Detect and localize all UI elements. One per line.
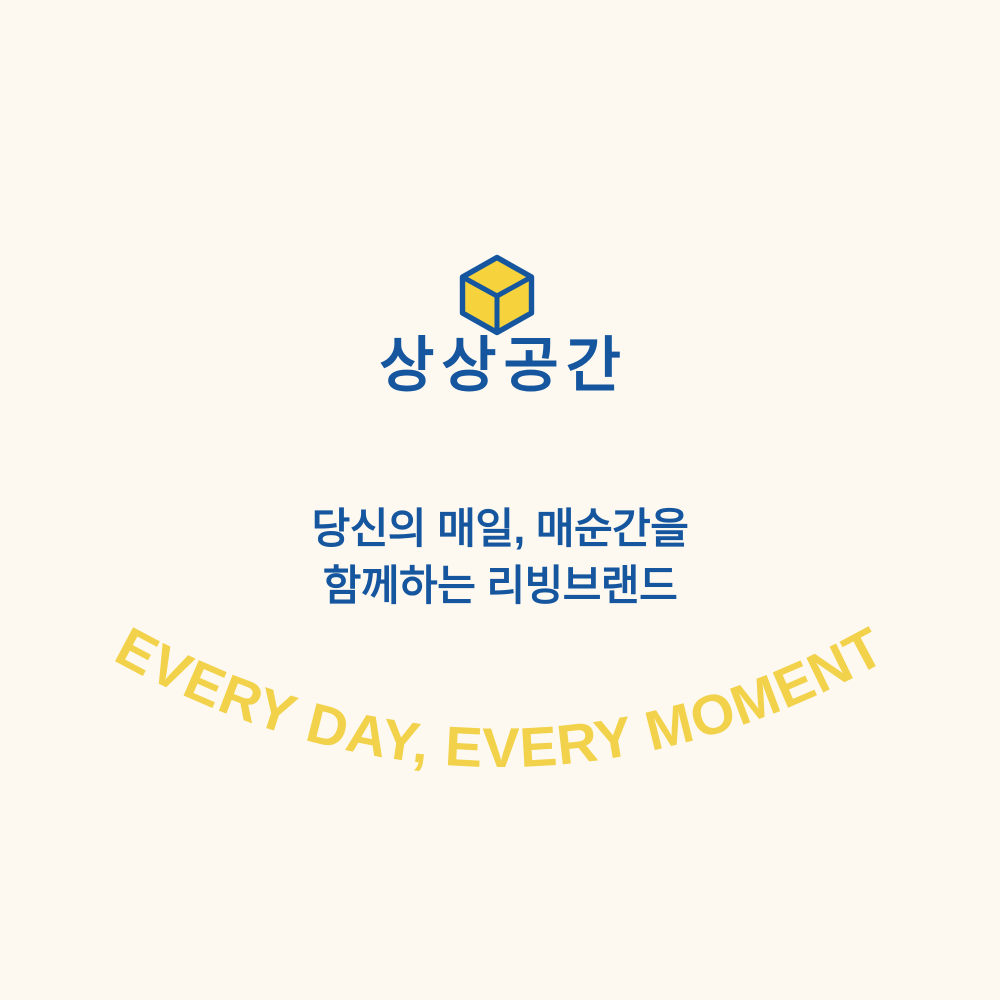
logo-lockup: 상상공간 <box>0 0 1000 420</box>
tagline-line-2: 함께하는 리빙브랜드 <box>0 557 1000 614</box>
tagline-line-1: 당신의 매일, 매순간을 <box>0 500 1000 557</box>
slogan-textpath: EVERY DAY, EVERY MOMENT <box>106 614 894 779</box>
slogan-arc: EVERY DAY, EVERY MOMENT <box>100 610 900 870</box>
brand-poster: 상상공간 당신의 매일, 매순간을 함께하는 리빙브랜드 EVERY DAY, … <box>0 0 1000 1000</box>
logo-wordmark: 상상공간 <box>0 336 1000 396</box>
slogan-text: EVERY DAY, EVERY MOMENT <box>106 614 894 779</box>
isometric-cube-icon <box>455 252 539 338</box>
tagline: 당신의 매일, 매순간을 함께하는 리빙브랜드 <box>0 500 1000 614</box>
